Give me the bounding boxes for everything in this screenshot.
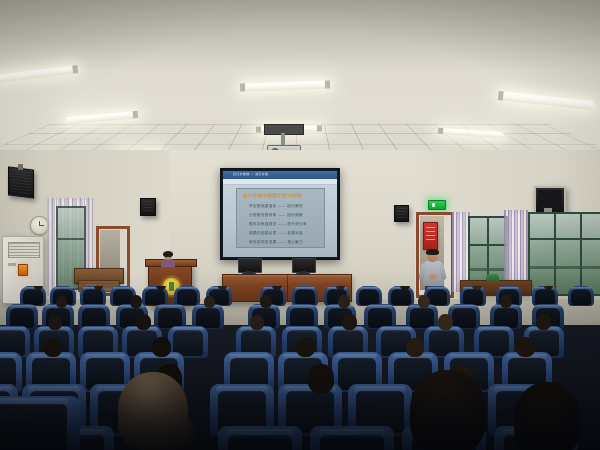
wall-speaker-mid-right xyxy=(394,205,409,222)
projected-window-titlebar: 幻灯片放映 — 演示文稿 xyxy=(223,171,337,179)
ac-display xyxy=(18,264,28,276)
slide-bullet: 家校协同促发展 —— 凝心聚力 xyxy=(249,240,318,245)
green-bin xyxy=(486,274,499,282)
projected-window-toolbar xyxy=(223,179,337,185)
slide-bullet: 限时训练强规范 —— 提升得分率 xyxy=(249,222,318,227)
person-at-podium xyxy=(160,252,176,266)
ac-vent xyxy=(8,242,40,258)
ceiling-vent-panel xyxy=(252,0,352,7)
exit-sign xyxy=(428,200,446,210)
slide-bullet: 分层推进提效率 —— 因材施教 xyxy=(249,213,318,218)
desk-monitor-left xyxy=(238,258,260,275)
auditorium-seats xyxy=(0,286,600,450)
projection-screen: 幻灯片放映 — 演示文稿 高三年级中期数学复习策略 夯实基础重落实 —— 回归教… xyxy=(220,168,340,260)
slide-title: 高三年级中期数学复习策略 xyxy=(243,193,320,199)
desk-monitor-right xyxy=(292,258,314,275)
slide-bullet: 错题归因重反思 —— 查漏补缺 xyxy=(249,231,318,236)
slide-bullet: 夯实基础重落实 —— 回归教材 xyxy=(249,204,318,209)
slide-content: 高三年级中期数学复习策略 夯实基础重落实 —— 回归教材 分层推进提效率 —— … xyxy=(236,188,325,248)
projected-window-title: 幻灯片放映 — 演示文稿 xyxy=(233,172,268,176)
notice-poster xyxy=(423,222,438,250)
wall-speaker-mid-left xyxy=(140,198,156,216)
seat-foreground xyxy=(0,396,80,450)
wall-speaker-left xyxy=(8,166,34,198)
speaker-bracket xyxy=(18,164,23,170)
window-right-far xyxy=(528,212,600,296)
auditorium-photo: 幻灯片放映 — 演示文稿 高三年级中期数学复习策略 夯实基础重落实 —— 回归教… xyxy=(0,0,600,450)
